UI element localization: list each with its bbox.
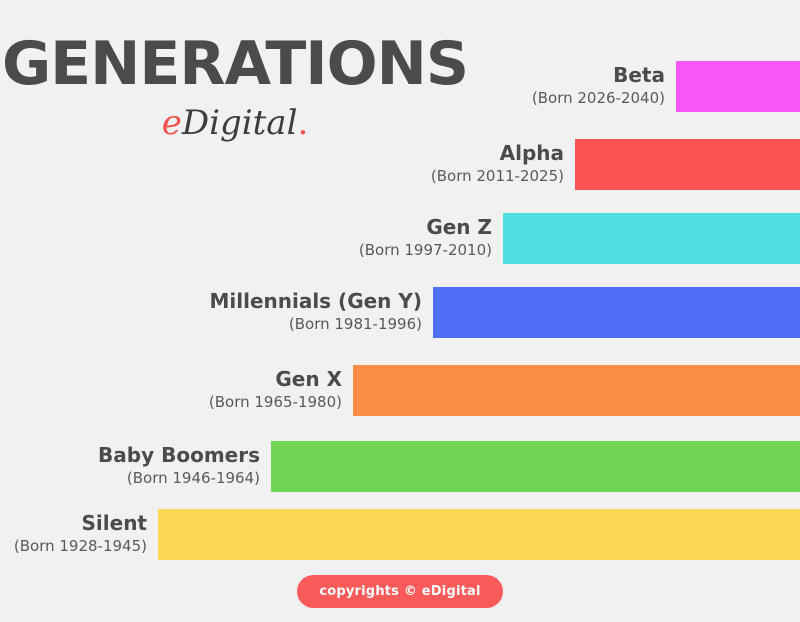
generation-label-group: Baby Boomers(Born 1946-1964) bbox=[98, 441, 271, 492]
generation-row-inner: Gen Z(Born 1997-2010) bbox=[503, 213, 800, 264]
generation-name: Millennials (Gen Y) bbox=[209, 290, 422, 313]
generation-row-inner: Alpha(Born 2011-2025) bbox=[575, 139, 800, 190]
generation-name: Beta bbox=[613, 64, 665, 87]
generations-infographic: GENERATIONS eDigital. Beta(Born 2026-204… bbox=[0, 0, 800, 622]
generation-years: (Born 1928-1945) bbox=[14, 537, 147, 557]
generation-name: Baby Boomers bbox=[98, 444, 260, 467]
generation-name: Gen X bbox=[275, 368, 342, 391]
footer: copyrights © eDigital bbox=[0, 575, 800, 608]
generation-row-inner: Beta(Born 2026-2040) bbox=[676, 61, 800, 112]
generation-label-group: Beta(Born 2026-2040) bbox=[532, 61, 676, 112]
generation-name: Silent bbox=[82, 512, 147, 535]
generation-row-inner: Millennials (Gen Y)(Born 1981-1996) bbox=[433, 287, 800, 338]
generation-years: (Born 2026-2040) bbox=[532, 89, 665, 109]
generation-bar bbox=[433, 287, 800, 338]
generation-label-group: Gen Z(Born 1997-2010) bbox=[359, 213, 503, 264]
generation-label-group: Silent(Born 1928-1945) bbox=[14, 509, 158, 560]
copyright-badge: copyrights © eDigital bbox=[297, 575, 502, 608]
generation-name: Gen Z bbox=[426, 216, 492, 239]
generation-bar bbox=[353, 365, 800, 416]
generation-row: Beta(Born 2026-2040) bbox=[0, 61, 800, 112]
generation-row: Silent(Born 1928-1945) bbox=[0, 509, 800, 560]
generation-label-group: Millennials (Gen Y)(Born 1981-1996) bbox=[209, 287, 433, 338]
generation-row-inner: Gen X(Born 1965-1980) bbox=[353, 365, 800, 416]
generation-years: (Born 1997-2010) bbox=[359, 241, 492, 261]
generation-name: Alpha bbox=[500, 142, 564, 165]
generation-row-inner: Baby Boomers(Born 1946-1964) bbox=[271, 441, 800, 492]
generation-label-group: Alpha(Born 2011-2025) bbox=[431, 139, 575, 190]
generation-row: Alpha(Born 2011-2025) bbox=[0, 139, 800, 190]
generation-years: (Born 1946-1964) bbox=[127, 469, 260, 489]
generation-row: Millennials (Gen Y)(Born 1981-1996) bbox=[0, 287, 800, 338]
generation-bar bbox=[575, 139, 800, 190]
generation-label-group: Gen X(Born 1965-1980) bbox=[209, 365, 353, 416]
generation-bar bbox=[503, 213, 800, 264]
generation-row: Gen Z(Born 1997-2010) bbox=[0, 213, 800, 264]
generation-row-inner: Silent(Born 1928-1945) bbox=[158, 509, 800, 560]
generation-bar bbox=[158, 509, 800, 560]
generation-row: Gen X(Born 1965-1980) bbox=[0, 365, 800, 416]
generation-years: (Born 2011-2025) bbox=[431, 167, 564, 187]
generation-bar bbox=[676, 61, 800, 112]
generation-bar bbox=[271, 441, 800, 492]
generation-years: (Born 1981-1996) bbox=[289, 315, 422, 335]
generation-years: (Born 1965-1980) bbox=[209, 393, 342, 413]
generation-row: Baby Boomers(Born 1946-1964) bbox=[0, 441, 800, 492]
